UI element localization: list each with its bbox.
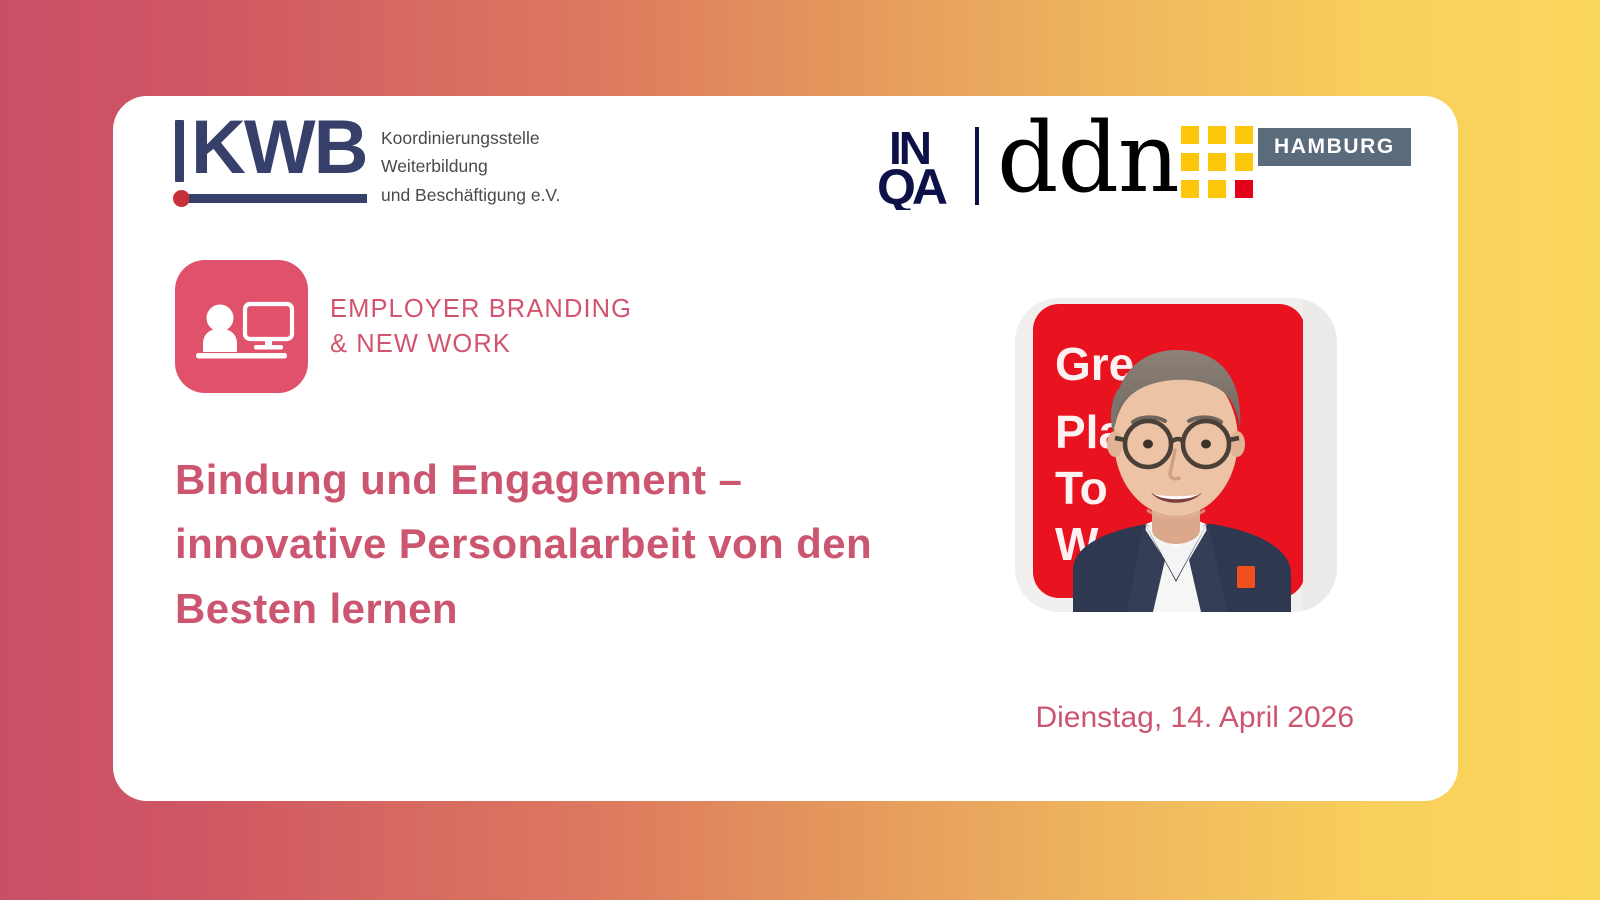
- kwb-logo: KWB Koordinierungsstelle Weiterbildung u…: [175, 118, 560, 214]
- kwb-underline-rule: [189, 194, 367, 203]
- ddn-grid-cell: [1208, 126, 1226, 144]
- kwb-logomark: KWB: [175, 118, 375, 214]
- ddn-grid-cell: [1235, 126, 1253, 144]
- ddn-grid-cell: [1181, 126, 1199, 144]
- hamburg-badge: HAMBURG: [1258, 128, 1411, 166]
- kwb-red-dot-icon: [173, 190, 190, 207]
- inqa-ddn-divider: [975, 127, 979, 205]
- ddn-grid-icon: [1181, 126, 1253, 198]
- event-date: Dienstag, 14. April 2026: [1035, 701, 1354, 735]
- ddn-grid-cell: [1235, 153, 1253, 171]
- ddn-wordmark: ddn: [997, 110, 1179, 206]
- ddn-grid-cell: [1181, 180, 1199, 198]
- topic-block: EMPLOYER BRANDING & NEW WORK: [175, 260, 632, 393]
- ddn-grid-cell-accent: [1235, 180, 1253, 198]
- person-at-desk-with-monitor-icon: [175, 260, 308, 393]
- topic-label: EMPLOYER BRANDING & NEW WORK: [330, 292, 632, 361]
- logo-row: KWB Koordinierungsstelle Weiterbildung u…: [113, 96, 1458, 241]
- kwb-subtitle: Koordinierungsstelle Weiterbildung und B…: [381, 124, 560, 209]
- kwb-subtitle-line-1: Koordinierungsstelle: [381, 124, 560, 152]
- svg-text:To: To: [1055, 462, 1108, 514]
- ddn-grid-cell: [1208, 153, 1226, 171]
- inqa-logo: IN QA: [875, 124, 971, 210]
- event-card: KWB Koordinierungsstelle Weiterbildung u…: [113, 96, 1458, 801]
- speaker-portrait: Gre Pla To W: [1015, 298, 1337, 612]
- kwb-subtitle-line-3: und Beschäftigung e.V.: [381, 181, 560, 209]
- kwb-vertical-bar-icon: [175, 120, 184, 182]
- kwb-subtitle-line-2: Weiterbildung: [381, 152, 560, 180]
- ddn-grid-cell: [1181, 153, 1199, 171]
- svg-text:QA: QA: [877, 159, 947, 210]
- kwb-letters: KWB: [191, 110, 367, 186]
- ddn-grid-cell: [1208, 180, 1226, 198]
- page-title: Bindung und Engagement – innovative Pers…: [175, 448, 935, 641]
